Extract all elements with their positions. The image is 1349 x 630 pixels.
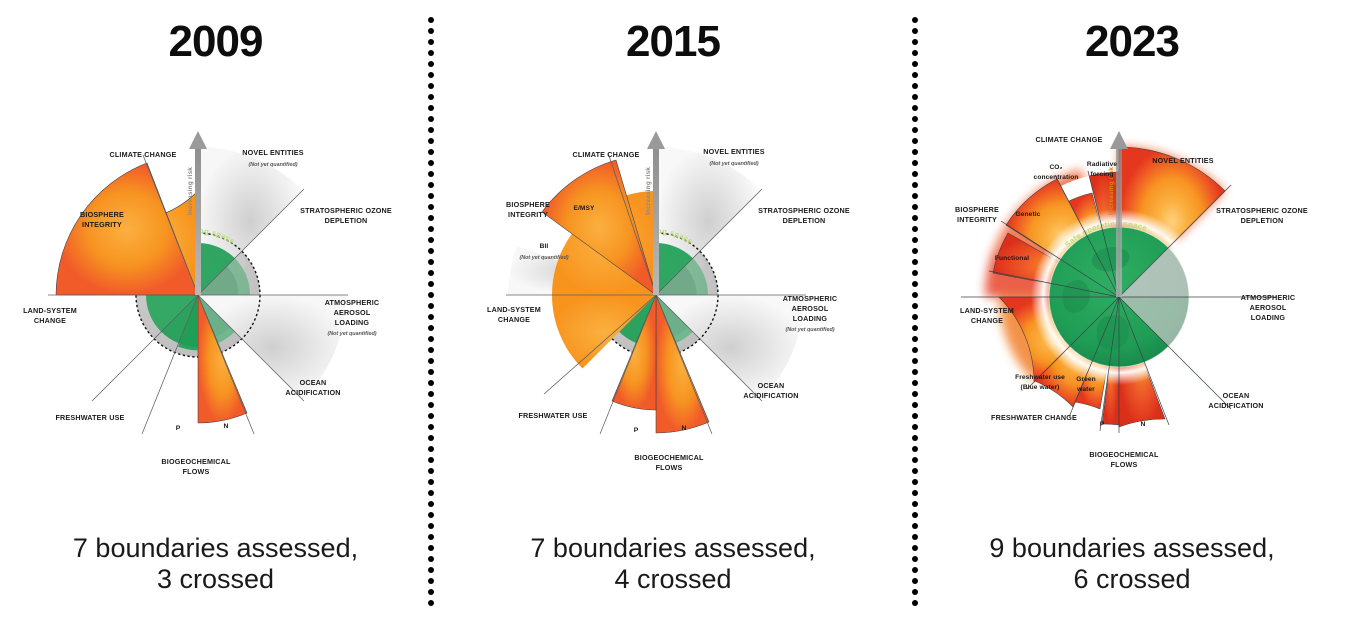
divider-dot [428,578,434,584]
planetary-boundaries-chart-2015: Safe operating space [486,100,861,500]
label-green-water-l1-2023: Green [1076,376,1096,383]
divider-dot [428,50,434,56]
divider-dot [428,149,434,155]
diagram-2009: Safe operating space [28,100,403,500]
caption-line-1-2009: 7 boundaries assessed, [0,533,431,565]
divider-dot [428,127,434,133]
label-land-l1-2023: LAND-SYSTEM [960,306,1014,315]
divider-dot [912,303,918,309]
diagram-2015: Safe operating space [486,100,861,500]
label-novel-entities-2023: NOVEL ENTITIES [1152,156,1214,165]
divider-dot [428,347,434,353]
divider-dot [428,479,434,485]
panel-2015: 2015 [431,0,915,630]
label-freshwater-2015: FRESHWATER USE [518,411,587,420]
divider-dot [428,28,434,34]
label-co2-l1-2023: CO₂ [1049,164,1062,171]
divider-dot [912,193,918,199]
divider-dot [912,50,918,56]
label-radiative-l1-2023: Radiative [1087,161,1117,168]
divider-dot [912,204,918,210]
divider-dot [428,457,434,463]
label-ocean-l2-2015: ACIDIFICATION [743,391,798,400]
label-functional-2023: Functional [995,255,1029,262]
label-ocean-l1-2009: OCEAN [300,378,327,387]
label-biogeochemical-l2-2015: FLOWS [656,463,683,472]
label-aerosol-l3-2009: LOADING [335,318,370,327]
divider-dot [912,248,918,254]
divider-dot [912,435,918,441]
divider-dot [912,556,918,562]
panel-caption-2023: 9 boundaries assessed, 6 crossed [915,533,1349,596]
label-aerosol-note-2009: (Not yet quantified) [327,331,376,337]
divider-dot [912,215,918,221]
divider-dot [912,259,918,265]
divider-dot [912,160,918,166]
divider-dot [428,314,434,320]
label-land-l2-2023: CHANGE [971,316,1003,325]
divider-dot [428,105,434,111]
label-biosphere-l2-2009: INTEGRITY [82,220,122,229]
divider-dot [912,138,918,144]
divider-dot [428,270,434,276]
divider-dot [912,347,918,353]
label-bii-2015: BII [540,243,549,250]
divider-dot [428,391,434,397]
divider-dot [912,457,918,463]
divider-dot [912,149,918,155]
divider-dot [912,270,918,276]
label-novel-entities-2009: NOVEL ENTITIES [242,148,304,157]
label-emsy-2015: E/MSY [573,205,595,212]
divider-dot [428,380,434,386]
label-biosphere-l1-2023: BIOSPHERE [955,205,999,214]
divider-dot [912,380,918,386]
panel-caption-2015: 7 boundaries assessed, 4 crossed [431,533,915,596]
label-novel-entities-note-2015: (Not yet quantified) [709,161,758,167]
label-land-l1-2009: LAND-SYSTEM [23,306,77,315]
panel-title-2015: 2015 [431,20,915,64]
divider-dot [428,468,434,474]
planetary-boundaries-chart-2009: Safe operating space [28,100,403,500]
divider-dot [428,556,434,562]
panel-2009: 2009 [0,0,431,630]
label-ocean-l1-2015: OCEAN [758,381,785,390]
divider-dot [912,358,918,364]
divider-dot [428,589,434,595]
divider-dot [428,402,434,408]
label-aerosol-l3-2023: LOADING [1251,313,1286,322]
divider-dot [428,215,434,221]
divider-dot [912,237,918,243]
label-radiative-l2-2023: forcing [1090,171,1113,178]
label-P-2015: P [634,427,639,434]
planetary-boundaries-chart-2023: Safe operating space [943,100,1323,500]
caption-line-2-2009: 3 crossed [0,564,431,596]
label-climate-change-2009: CLIMATE CHANGE [109,150,176,159]
label-P-2023: P [1100,421,1105,428]
divider-dot [428,248,434,254]
divider-dot [428,325,434,331]
label-ozone-l1-2015: STRATOSPHERIC OZONE [758,206,850,215]
divider-dot [428,39,434,45]
label-novel-entities-2015: NOVEL ENTITIES [703,147,765,156]
divider-dot [428,160,434,166]
label-aerosol-l1-2023: ATMOSPHERIC [1241,293,1296,302]
divider-dot [912,61,918,67]
panel-title-2009: 2009 [0,20,431,64]
divider-dot [912,39,918,45]
label-biosphere-l2-2015: INTEGRITY [508,210,548,219]
divider-dot [912,336,918,342]
divider-dot [912,369,918,375]
label-biogeochemical-l2-2009: FLOWS [183,467,210,476]
label-aerosol-l2-2009: AEROSOL [334,308,371,317]
divider-dot [428,193,434,199]
label-ocean-l2-2023: ACIDIFICATION [1208,401,1263,410]
divider-dot [428,237,434,243]
panel-caption-2009: 7 boundaries assessed, 3 crossed [0,533,431,596]
divider-dot [428,413,434,419]
label-N-2023: N [1141,421,1146,428]
divider-dot [428,501,434,507]
label-biosphere-l1-2009: BIOSPHERE [80,210,124,219]
label-aerosol-l2-2015: AEROSOL [792,304,829,313]
label-land-l2-2015: CHANGE [498,315,530,324]
label-N-2015: N [682,425,687,432]
label-ozone-l2-2015: DEPLETION [783,216,826,225]
divider-dot [428,534,434,540]
divider-dot [912,424,918,430]
divider-dot [912,567,918,573]
divider-dot [912,171,918,177]
label-biogeochemical-l2-2023: FLOWS [1111,460,1138,469]
figure-canvas: 2009 [0,0,1349,630]
divider-dot [912,534,918,540]
divider-dot [428,545,434,551]
label-freshwater-2009: FRESHWATER USE [55,413,124,422]
caption-line-2-2023: 6 crossed [915,564,1349,596]
label-aerosol-l3-2015: LOADING [793,314,828,323]
label-aerosol-note-2015: (Not yet quantified) [785,327,834,333]
caption-line-2-2015: 4 crossed [431,564,915,596]
label-co2-l2-2023: concentration [1034,174,1079,181]
label-climate-change-2023: CLIMATE CHANGE [1035,135,1102,144]
divider-dot [428,446,434,452]
label-bii-note-2015: (Not yet quantified) [519,255,568,261]
divider-dot [428,259,434,265]
divider-dot [428,336,434,342]
label-land-l2-2009: CHANGE [34,316,66,325]
divider-dot [428,182,434,188]
label-biogeochemical-l1-2023: BIOGEOCHEMICAL [1089,450,1159,459]
divider-dot [912,446,918,452]
panel-divider-1 [428,17,435,612]
divider-dot [912,28,918,34]
increasing-risk-label-2009: Increasing risk [187,167,194,215]
label-aerosol-l1-2015: ATMOSPHERIC [783,294,838,303]
divider-dot [912,468,918,474]
divider-dot [912,325,918,331]
label-P-2009: P [176,425,181,432]
divider-dot [428,94,434,100]
caption-line-1-2015: 7 boundaries assessed, [431,533,915,565]
divider-dot [912,314,918,320]
divider-dot [428,171,434,177]
divider-dot [428,281,434,287]
divider-dot [428,512,434,518]
divider-dot [912,578,918,584]
divider-dot [912,391,918,397]
divider-dot [912,182,918,188]
label-blue-water-l1-2023: Freshwater use [1015,374,1065,381]
label-blue-water-l2-2023: (Blue water) [1021,384,1060,391]
divider-dot [912,413,918,419]
label-ocean-l1-2023: OCEAN [1223,391,1250,400]
label-ozone-l2-2023: DEPLETION [1241,216,1284,225]
label-aerosol-l2-2023: AEROSOL [1250,303,1287,312]
divider-dot [912,281,918,287]
divider-dot [912,116,918,122]
divider-dot [428,138,434,144]
panel-title-2023: 2023 [915,20,1349,64]
divider-dot [428,61,434,67]
divider-dot [428,116,434,122]
label-genetic-2023: Genetic [1016,211,1041,218]
label-novel-entities-note-2009: (Not yet quantified) [248,162,297,168]
divider-dot [912,490,918,496]
label-ozone-l1-2009: STRATOSPHERIC OZONE [300,206,392,215]
divider-dot [912,589,918,595]
divider-dot [428,303,434,309]
divider-dot [912,501,918,507]
divider-dot [428,72,434,78]
divider-dot [428,523,434,529]
divider-dot [428,490,434,496]
divider-dot [428,204,434,210]
divider-dot [912,83,918,89]
divider-dot [912,512,918,518]
divider-dot [428,369,434,375]
label-ozone-l1-2023: STRATOSPHERIC OZONE [1216,206,1308,215]
divider-dot [428,358,434,364]
label-green-water-l2-2023: water [1076,386,1095,393]
diagram-2023: Safe operating space [943,100,1323,500]
label-biogeochemical-l1-2015: BIOGEOCHEMICAL [634,453,704,462]
divider-dot [428,226,434,232]
label-biosphere-l1-2015: BIOSPHERE [506,200,550,209]
caption-line-1-2023: 9 boundaries assessed, [915,533,1349,565]
divider-dot [912,72,918,78]
divider-dot [428,424,434,430]
divider-dot [912,479,918,485]
divider-dot [912,105,918,111]
panel-2023: 2023 [915,0,1349,630]
divider-dot [428,83,434,89]
divider-dot [912,523,918,529]
divider-dot [428,435,434,441]
label-aerosol-l1-2009: ATMOSPHERIC [325,298,380,307]
divider-dot [912,94,918,100]
divider-dot [912,292,918,298]
label-freshwater-change-2023: FRESHWATER CHANGE [991,413,1077,422]
divider-dot [428,292,434,298]
divider-dot [912,545,918,551]
label-biosphere-l2-2023: INTEGRITY [957,215,997,224]
divider-dot [912,402,918,408]
divider-dot [912,600,918,606]
divider-dot [428,17,434,23]
divider-dot [912,17,918,23]
label-climate-change-2015: CLIMATE CHANGE [572,150,639,159]
label-N-2009: N [224,423,229,430]
label-biogeochemical-l1-2009: BIOGEOCHEMICAL [161,457,231,466]
increasing-risk-label-2015: Increasing risk [645,167,652,215]
divider-dot [428,567,434,573]
label-land-l1-2015: LAND-SYSTEM [487,305,541,314]
label-ozone-l2-2009: DEPLETION [325,216,368,225]
divider-dot [428,600,434,606]
label-ocean-l2-2009: ACIDIFICATION [285,388,340,397]
divider-dot [912,226,918,232]
divider-dot [912,127,918,133]
panel-divider-2 [912,17,919,612]
